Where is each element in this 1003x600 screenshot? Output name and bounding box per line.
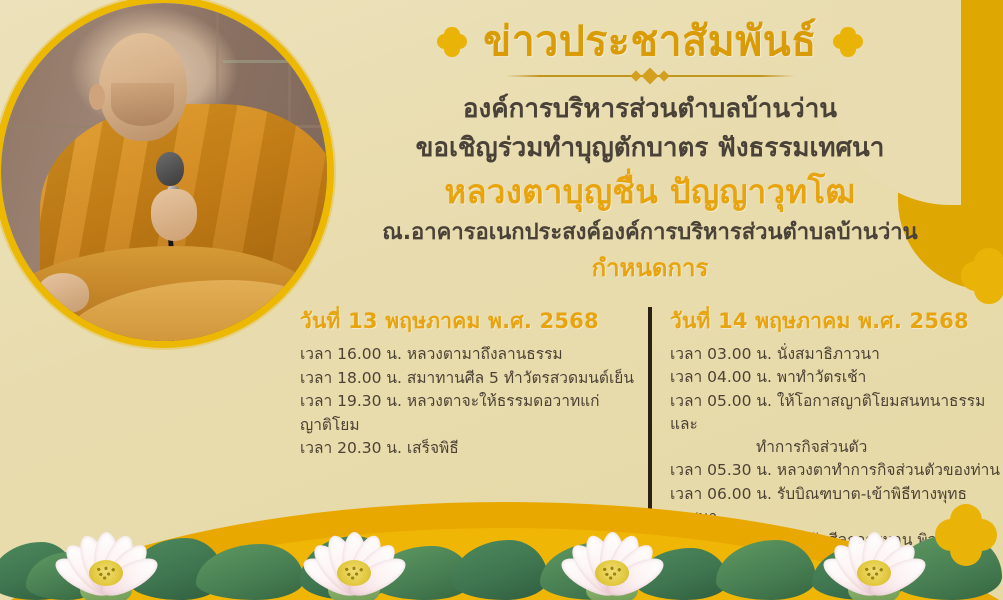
lotus-decoration-band	[0, 490, 1003, 600]
quatrefoil-ornament-right-icon	[833, 27, 863, 57]
quatrefoil-ornament-left-icon	[437, 27, 467, 57]
schedule-section: วันที่ 13 พฤษภาคม พ.ศ. 2568 เวลา 16.00 น…	[300, 305, 1003, 520]
schedule-item: เวลา 16.00 น. หลวงตามาถึงลานธรรม	[300, 343, 634, 367]
announcement-poster: ข่าวประชาสัมพันธ์ องค์การบริหารส่วนตำบลบ…	[0, 0, 1003, 600]
decorative-divider-icon	[505, 69, 795, 83]
title-row: ข่าวประชาสัมพันธ์	[300, 18, 1000, 65]
schedule-item: เวลา 18.00 น. สมาทานศีล 5 ทำวัตรสวดมนต์เ…	[300, 367, 634, 391]
lotus-flower-icon	[810, 504, 938, 600]
monk-photo	[0, 0, 334, 348]
schedule-date-day1: วันที่ 13 พฤษภาคม พ.ศ. 2568	[300, 305, 634, 338]
schedule-item: เวลา 20.30 น. เสร็จพิธี	[300, 437, 634, 461]
schedule-item-continuation: ทำการกิจส่วนตัว	[670, 436, 1003, 459]
schedule-column-day2: วันที่ 14 พฤษภาคม พ.ศ. 2568 เวลา 03.00 น…	[650, 305, 1003, 520]
monk-ear	[89, 84, 105, 110]
schedule-item: เวลา 05.00 น. ให้โอกาสญาติโยมสนทนาธรรมแล…	[670, 390, 1003, 437]
microphone-head	[156, 152, 184, 186]
schedule-item: เวลา 03.00 น. นั่งสมาธิภาวนา	[670, 343, 1003, 366]
monk-hand	[37, 273, 89, 313]
monk-hand	[151, 189, 197, 241]
monk-name: หลวงตาบุญชื่น ปัญญาวุทโฒ	[300, 168, 1000, 216]
monk-head	[99, 33, 187, 141]
schedule-column-day1: วันที่ 13 พฤษภาคม พ.ศ. 2568 เวลา 16.00 น…	[300, 305, 650, 520]
schedule-date-day2: วันที่ 14 พฤษภาคม พ.ศ. 2568	[670, 305, 1003, 338]
quatrefoil-ornament-bottom-right-icon	[935, 504, 997, 566]
lotus-flower-icon	[548, 504, 676, 600]
invitation-line: ขอเชิญร่วมทำบุญตักบาตร ฟังธรรมเทศนา	[300, 129, 1000, 168]
page-title: ข่าวประชาสัมพันธ์	[483, 18, 817, 65]
quatrefoil-ornament-edge-icon	[961, 248, 1003, 304]
venue-line: ณ.อาคารอเนกประสงค์องค์การบริหารส่วนตำบลบ…	[300, 216, 1000, 249]
lotus-flower-icon	[42, 504, 170, 600]
lotus-flower-icon	[290, 504, 418, 600]
agenda-label: กำหนดการ	[300, 249, 1000, 287]
organization-name: องค์การบริหารส่วนตำบลบ้านว่าน	[300, 91, 1000, 129]
schedule-item: เวลา 05.30 น. หลวงตาทำการกิจส่วนตัวของท่…	[670, 459, 1003, 482]
background-wall-line	[288, 3, 291, 125]
schedule-item: เวลา 04.00 น. พาทำวัตรเช้า	[670, 366, 1003, 389]
schedule-items-day1: เวลา 16.00 น. หลวงตามาถึงลานธรรม เวลา 18…	[300, 343, 634, 461]
header-block: ข่าวประชาสัมพันธ์ องค์การบริหารส่วนตำบลบ…	[300, 18, 1000, 287]
monk-photo-image	[1, 3, 327, 341]
schedule-item: เวลา 19.30 น. หลวงตาจะให้ธรรมดอวาทแก่ญาต…	[300, 390, 634, 437]
